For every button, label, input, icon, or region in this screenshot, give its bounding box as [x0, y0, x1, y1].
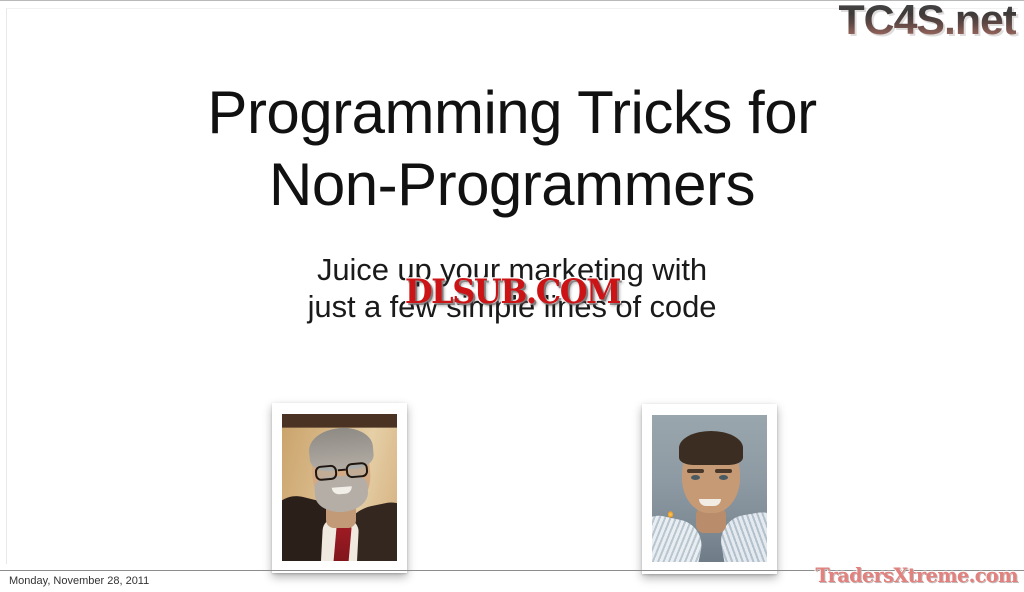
eyebrow-right [715, 469, 732, 473]
footer-date: Monday, November 28, 2011 [9, 575, 149, 587]
footer-watermark: TradersXtreme.com [816, 563, 1018, 587]
hair [679, 431, 743, 465]
presenter-photo-left [272, 403, 407, 573]
presenter-photo-left-image [282, 414, 397, 561]
eyebrow-left [687, 469, 704, 473]
portrait-illustration-right [652, 415, 767, 562]
eye-right [719, 475, 728, 480]
presenter-photo-right [642, 404, 777, 574]
eye-left [691, 475, 700, 480]
eyeglass-lens-right [345, 462, 368, 479]
red-necktie [333, 524, 351, 561]
slide-root: TC4S.net TC4S.net Programming Tricks for… [0, 0, 1024, 592]
slide-title-line-1: Programming Tricks for [0, 77, 1024, 149]
smile [699, 499, 721, 506]
slide-subtitle-line-1: Juice up your marketing with [0, 251, 1024, 288]
slide-subtitle-line-2: just a few simple lines of code [0, 288, 1024, 325]
brand-logo: TC4S.net [838, 0, 1016, 41]
eyeglass-bridge [338, 469, 346, 472]
slide-title: Programming Tricks for Non-Programmers [0, 77, 1024, 221]
presenter-photo-right-image [652, 415, 767, 562]
slide-subtitle: Juice up your marketing with just a few … [0, 251, 1024, 325]
slide-canvas: TC4S.net TC4S.net Programming Tricks for… [0, 0, 1024, 569]
eyeglass-lens-left [314, 464, 337, 481]
portrait-illustration-left [282, 414, 397, 561]
slide-title-line-2: Non-Programmers [0, 149, 1024, 221]
